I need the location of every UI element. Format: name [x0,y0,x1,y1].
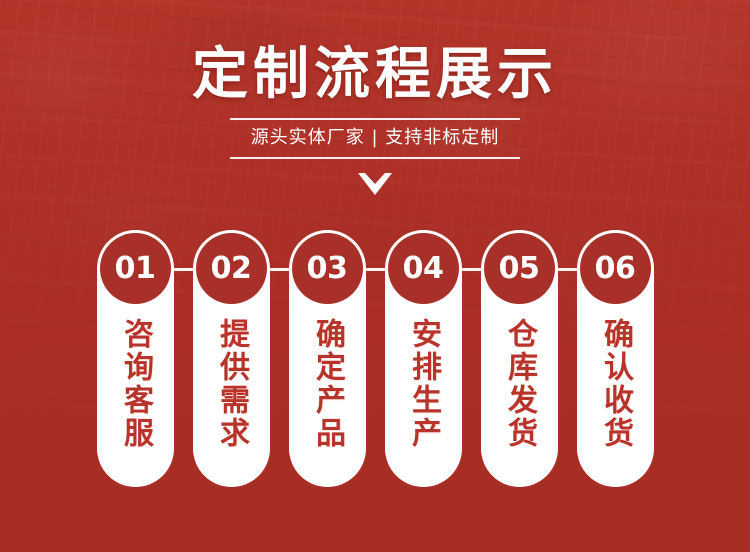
step-label: 确定产品 [309,318,345,450]
step-label: 确认收货 [597,318,633,450]
step-label: 仓库发货 [501,318,537,450]
step-item-06[interactable]: 06 确认收货 [577,230,654,487]
step-badge-04: 04 [388,233,459,304]
step-label: 安排生产 [405,318,441,450]
step-number: 04 [403,251,444,286]
step-badge-03: 03 [292,233,363,304]
step-item-04[interactable]: 04 安排生产 [385,230,462,487]
subtitle-text: 源头实体厂家 | 支持非标定制 [230,120,520,157]
step-number: 01 [115,251,156,286]
process-steps: 01 咨询客服 02 提供需求 03 确定产品 04 安排生 [0,230,750,488]
step-number: 02 [211,251,252,286]
step-badge-05: 05 [484,233,555,304]
custom-process-banner: 定制流程展示 源头实体厂家 | 支持非标定制 01 咨询客服 02 提供需 [0,0,750,552]
subtitle-block: 源头实体厂家 | 支持非标定制 [230,118,520,159]
step-pill-row: 01 咨询客服 02 提供需求 03 确定产品 04 安排生 [0,230,750,488]
step-number: 06 [595,251,636,286]
banner-header: 定制流程展示 源头实体厂家 | 支持非标定制 [0,0,750,200]
page-title: 定制流程展示 [0,44,750,106]
step-number: 03 [307,251,348,286]
step-badge-01: 01 [100,233,171,304]
subtitle-rule-bottom [230,157,520,159]
step-label: 提供需求 [213,318,249,450]
step-number: 05 [499,251,540,286]
step-badge-02: 02 [196,233,267,304]
step-item-01[interactable]: 01 咨询客服 [97,230,174,487]
step-item-02[interactable]: 02 提供需求 [193,230,270,487]
step-item-05[interactable]: 05 仓库发货 [481,230,558,487]
step-label: 咨询客服 [117,318,153,450]
step-item-03[interactable]: 03 确定产品 [289,230,366,487]
step-badge-06: 06 [580,233,651,304]
chevron-down-icon [358,173,392,195]
